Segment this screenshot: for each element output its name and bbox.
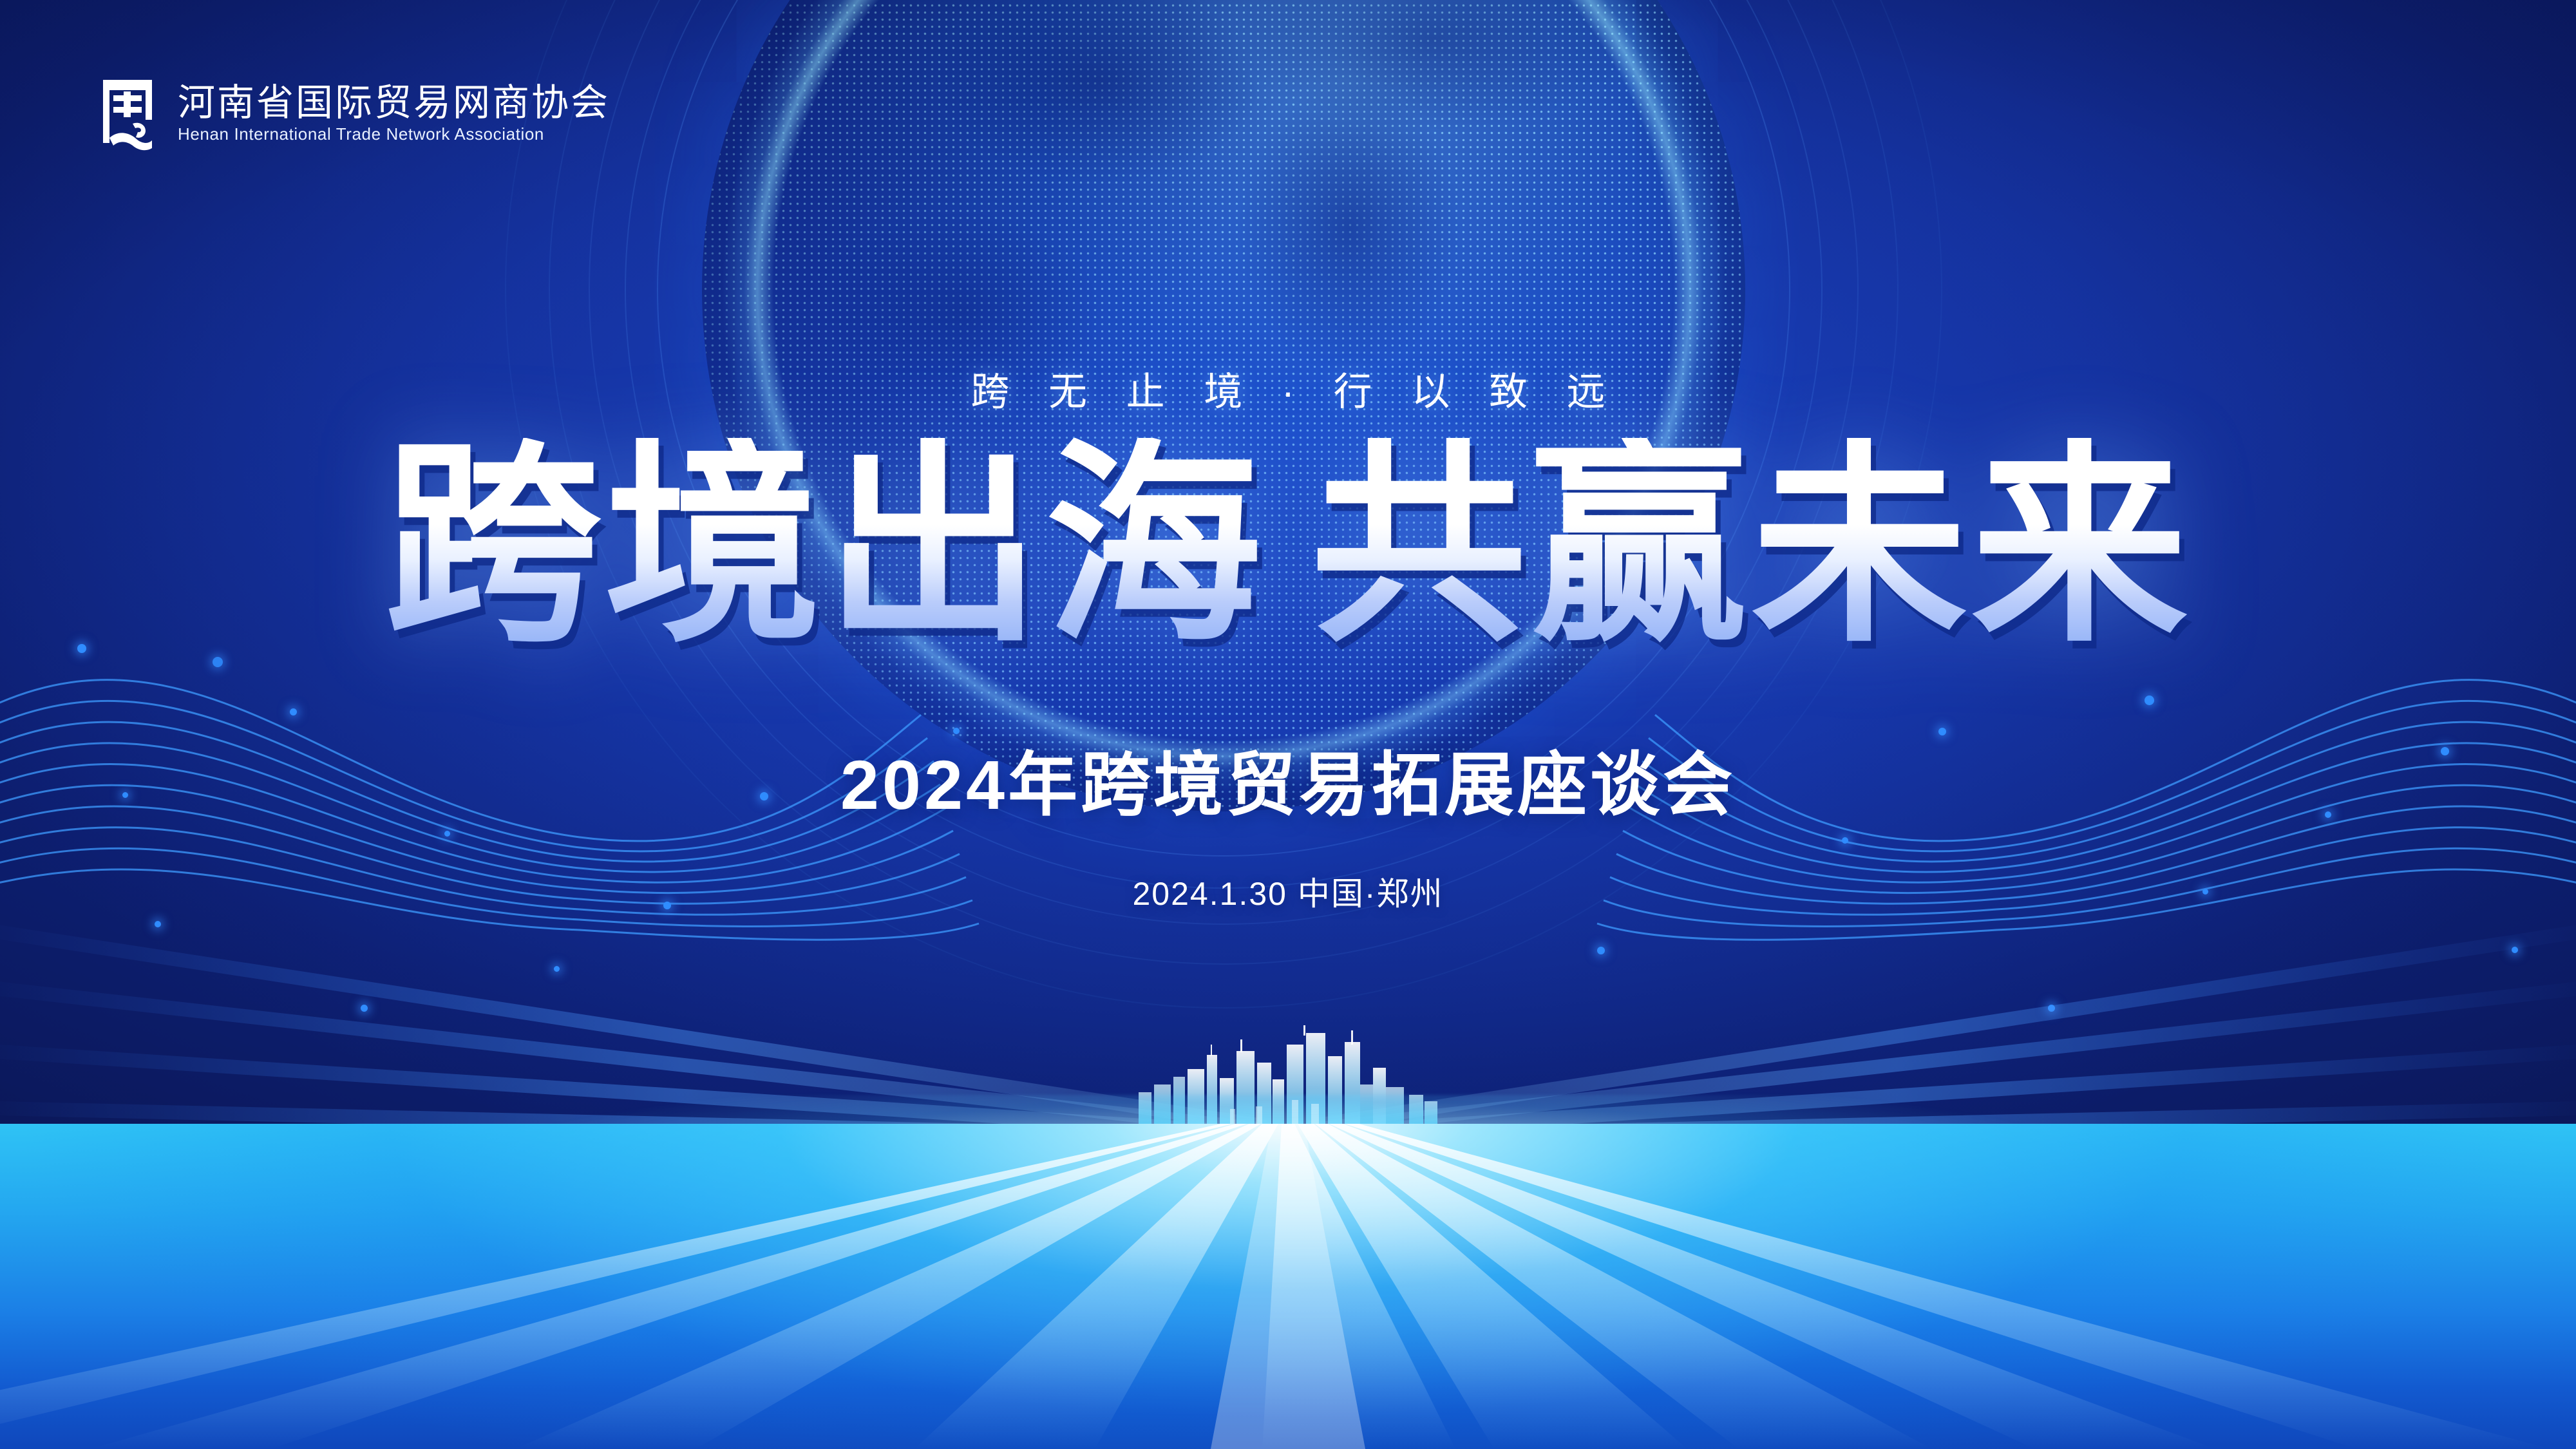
logo-name-en: Henan International Trade Network Associ… [178,126,610,142]
logo-text-block: 河南省国际贸易网商协会 Henan International Trade Ne… [178,84,610,142]
event-tagline: 跨 无 止 境 · 行 以 致 远 [0,361,2576,417]
association-logo[interactable]: 河南省国际贸易网商协会 Henan International Trade Ne… [97,76,610,151]
ground-light-plane [0,1124,2576,1449]
event-poster: 河南省国际贸易网商协会 Henan International Trade Ne… [0,0,2576,1449]
event-date-location: 2024.1.30 中国·郑州 [0,875,2576,913]
logo-name-cn: 河南省国际贸易网商协会 [178,84,610,122]
event-subtitle: 2024年跨境贸易拓展座谈会 [0,747,2576,824]
event-headline: 跨境出海共赢未来 [0,438,2576,654]
seal-logo-icon [97,76,158,151]
headline-part-2: 共赢未来 [1311,425,2192,667]
light-rays [0,1124,2576,1449]
headline-part-1: 跨境出海 [384,425,1265,667]
